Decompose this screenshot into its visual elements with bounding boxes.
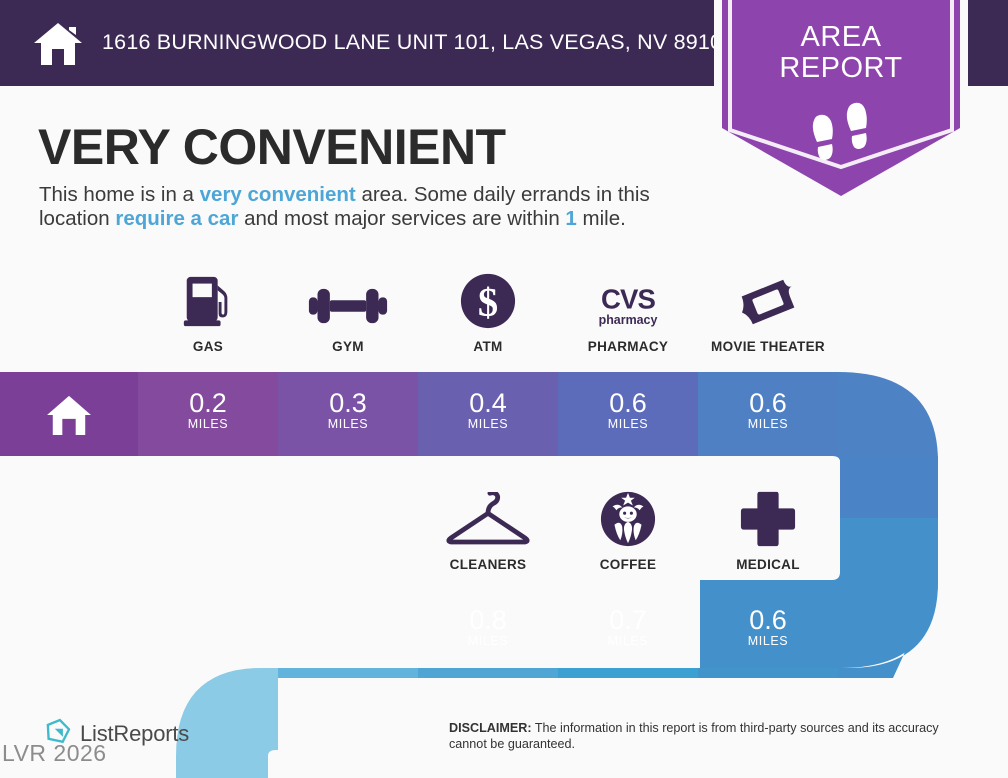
- page-title: VERY CONVENIENT: [38, 118, 506, 176]
- hanger-icon: [418, 486, 558, 548]
- distance-value: 0.3: [278, 372, 418, 418]
- svg-text:pharmacy: pharmacy: [599, 313, 658, 327]
- amenity-label: GAS: [138, 339, 278, 354]
- amenity-pharmacy: CVS pharmacy PHARMACY: [558, 268, 698, 354]
- cvs-pharmacy-logo: CVS pharmacy: [558, 268, 698, 330]
- desc-part1: This home is in a: [39, 183, 200, 206]
- segment-spacer-2: [160, 573, 278, 678]
- distance-unit: MILES: [558, 634, 698, 648]
- desc-part3: and most major services are within: [238, 207, 565, 230]
- area-report-page: 1616 BURNINGWOOD LANE UNIT 101, LAS VEGA…: [0, 0, 1008, 778]
- distance-unit: MILES: [138, 417, 278, 431]
- header-divider-left: [714, 0, 722, 86]
- distance-gas: 0.2 MILES: [138, 372, 278, 458]
- dumbbell-icon: [278, 268, 418, 330]
- property-address: 1616 BURNINGWOOD LANE UNIT 101, LAS VEGA…: [102, 30, 734, 55]
- badge-title: AREA REPORT: [722, 22, 960, 84]
- amenity-medical: MEDICAL: [698, 486, 838, 572]
- distance-unit: MILES: [418, 634, 558, 648]
- badge-title-line1: AREA: [722, 22, 960, 53]
- distance-value: 0.6: [698, 589, 838, 635]
- header-divider-right: [960, 0, 968, 86]
- distance-value: 0.6: [698, 372, 838, 418]
- amenity-cleaners: CLEANERS: [418, 486, 558, 572]
- distance-medical: 0.6 MILES: [698, 589, 838, 675]
- desc-highlight-miles: 1: [565, 207, 576, 230]
- disclaimer-label: DISCLAIMER:: [449, 721, 532, 735]
- distance-unit: MILES: [558, 417, 698, 431]
- svg-text:$: $: [478, 280, 498, 325]
- distance-cleaners: 0.8 MILES: [418, 589, 558, 675]
- distance-gym: 0.3 MILES: [278, 372, 418, 458]
- desc-highlight-car: require a car: [115, 207, 238, 230]
- description-text: This home is in a very convenient area. …: [39, 183, 719, 231]
- amenity-label: MOVIE THEATER: [698, 339, 838, 354]
- medical-cross-icon: [698, 486, 838, 548]
- distance-value: 0.6: [558, 372, 698, 418]
- amenity-label: COFFEE: [558, 557, 698, 572]
- ticket-icon: [698, 268, 838, 330]
- desc-highlight-convenient: very convenient: [200, 183, 356, 206]
- amenity-gas: GAS: [138, 268, 278, 354]
- segment-spacer-1: [278, 573, 418, 678]
- amenity-movie-theater: MOVIE THEATER: [698, 268, 838, 354]
- distance-unit: MILES: [278, 417, 418, 431]
- distance-coffee: 0.7 MILES: [558, 589, 698, 675]
- amenity-label: ATM: [418, 339, 558, 354]
- distance-value: 0.2: [138, 372, 278, 418]
- footprints-icon: [795, 96, 887, 170]
- home-icon: [0, 372, 138, 458]
- amenity-label: GYM: [278, 339, 418, 354]
- badge-title-line2: REPORT: [722, 53, 960, 84]
- distance-value: 0.7: [558, 589, 698, 635]
- watermark-text: LVR 2026: [2, 740, 107, 767]
- distance-value: 0.4: [418, 372, 558, 418]
- disclaimer: DISCLAIMER: The information in this repo…: [449, 721, 969, 752]
- dollar-circle-icon: $: [418, 268, 558, 330]
- amenity-label: MEDICAL: [698, 557, 838, 572]
- distance-unit: MILES: [418, 417, 558, 431]
- distance-atm: 0.4 MILES: [418, 372, 558, 458]
- starbucks-logo: [558, 486, 698, 548]
- desc-part4: mile.: [577, 207, 626, 230]
- distance-unit: MILES: [698, 417, 838, 431]
- distance-unit: MILES: [698, 634, 838, 648]
- segment-turn-top: [838, 368, 948, 460]
- amenity-label: PHARMACY: [558, 339, 698, 354]
- amenity-coffee: COFFEE: [558, 486, 698, 572]
- svg-text:CVS: CVS: [601, 284, 655, 315]
- distance-value: 0.8: [418, 589, 558, 635]
- home-icon: [33, 22, 83, 66]
- distance-movie-theater: 0.6 MILES: [698, 372, 838, 458]
- distance-pharmacy: 0.6 MILES: [558, 372, 698, 458]
- gas-pump-icon: [138, 268, 278, 330]
- amenity-gym: GYM: [278, 268, 418, 354]
- amenity-label: CLEANERS: [418, 557, 558, 572]
- amenity-atm: $ ATM: [418, 268, 558, 354]
